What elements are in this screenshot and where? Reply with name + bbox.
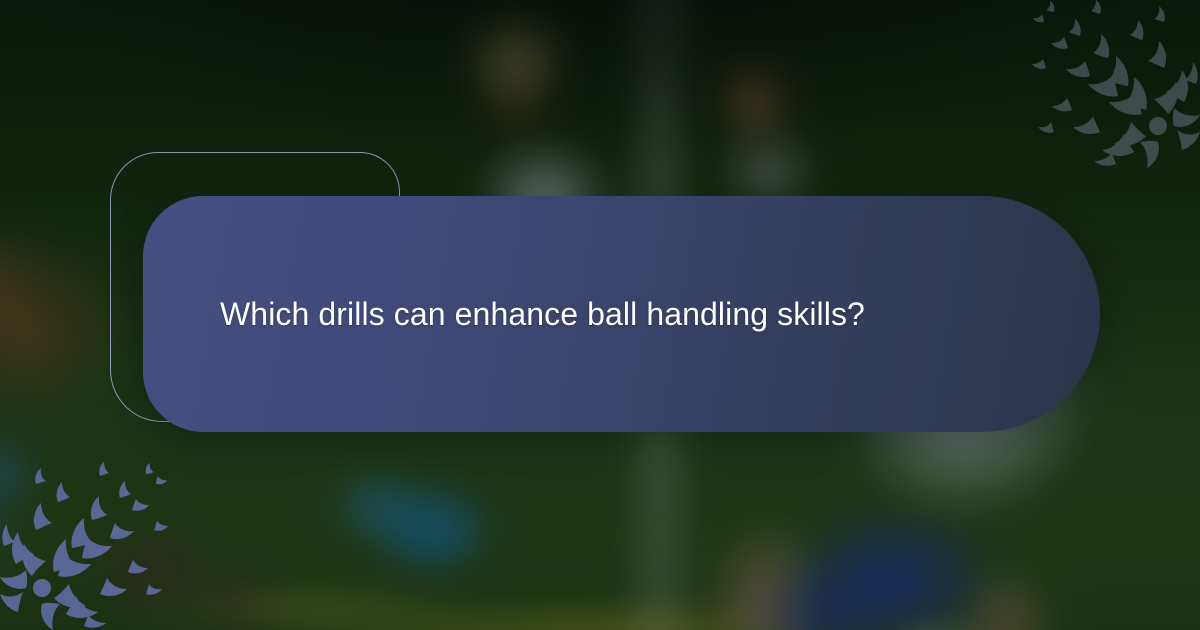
social-quote-card: Which drills can enhance ball handling s…: [0, 0, 1200, 630]
question-card: Which drills can enhance ball handling s…: [143, 196, 1100, 432]
question-text: Which drills can enhance ball handling s…: [220, 293, 865, 336]
